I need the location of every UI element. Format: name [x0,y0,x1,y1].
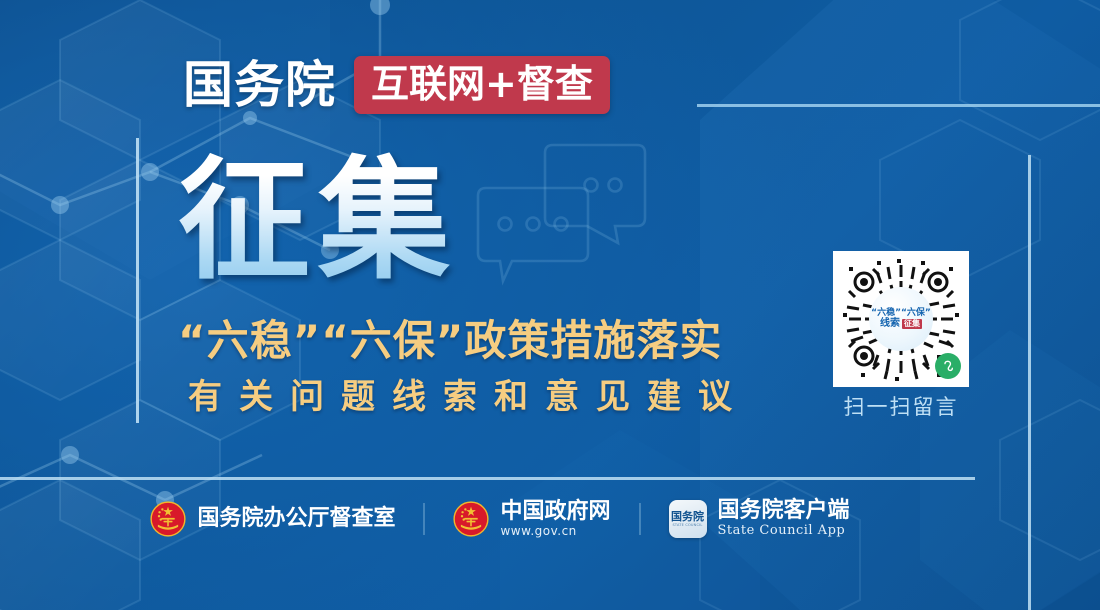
national-emblem-icon [453,501,489,537]
app-icon-label-cn: 国务院 [671,511,704,522]
qr-code[interactable]: “六稳”“六保” 线索 征集 [833,251,969,387]
footer: 国务院办公厅督查室 中国政府网 www.gov.cn [0,498,1000,540]
header: 国务院 互联网+督查 [183,56,610,114]
subtitle-line-1: “六稳”“六保”政策措施落实 [178,318,722,364]
footer-item-title: 国务院客户端 [718,498,850,523]
footer-item-state-council-app[interactable]: 国务院 STATE COUNCIL 国务院客户端 State Council A… [669,498,850,540]
footer-item-subtitle: www.gov.cn [500,524,610,540]
qr-center-clue: 线索 [880,319,900,329]
qr-block: “六稳”“六保” 线索 征集 扫一扫留言 [833,251,969,418]
divider-top-right [697,104,1100,107]
footer-divider-2 [639,503,641,535]
national-emblem-icon [150,501,186,537]
qr-caption: 扫一扫留言 [833,397,969,418]
qr-center-line1: “六稳”“六保” [871,309,931,318]
divider-vertical-right [1028,155,1031,610]
footer-item-gov-website[interactable]: 中国政府网 www.gov.cn [453,499,610,540]
qr-caption-text: 扫一扫留言 [844,397,959,418]
footer-item-title: 中国政府网 [500,499,610,524]
subtitle-line-2: 有关问题线索和意见建议 [188,379,749,416]
header-title: 国务院 [183,60,336,110]
footer-item-subtitle: State Council App [718,523,850,540]
footer-item-supervision-office[interactable]: 国务院办公厅督查室 [150,501,395,537]
miniprogram-glyph [940,358,956,374]
app-icon-label-en: STATE COUNCIL [672,523,702,527]
footer-item-title: 国务院办公厅督查室 [197,506,395,531]
page-title: 征集 [178,150,458,293]
qr-center-tag: 征集 [902,319,922,330]
state-council-app-icon: 国务院 STATE COUNCIL [669,500,707,538]
header-badge: 互联网+督查 [354,56,610,114]
poster-canvas: 国务院 互联网+督查 征集 “六稳”“六保”政策措施落实 有关问题线索和意见建议 [0,0,1100,610]
divider-vertical-left [136,138,139,423]
footer-divider-1 [423,503,425,535]
speech-bubble-decoration [478,145,645,281]
qr-center-logo: “六稳”“六保” 线索 征集 [869,287,933,351]
wechat-miniprogram-icon [935,353,961,379]
divider-bottom [0,477,975,480]
